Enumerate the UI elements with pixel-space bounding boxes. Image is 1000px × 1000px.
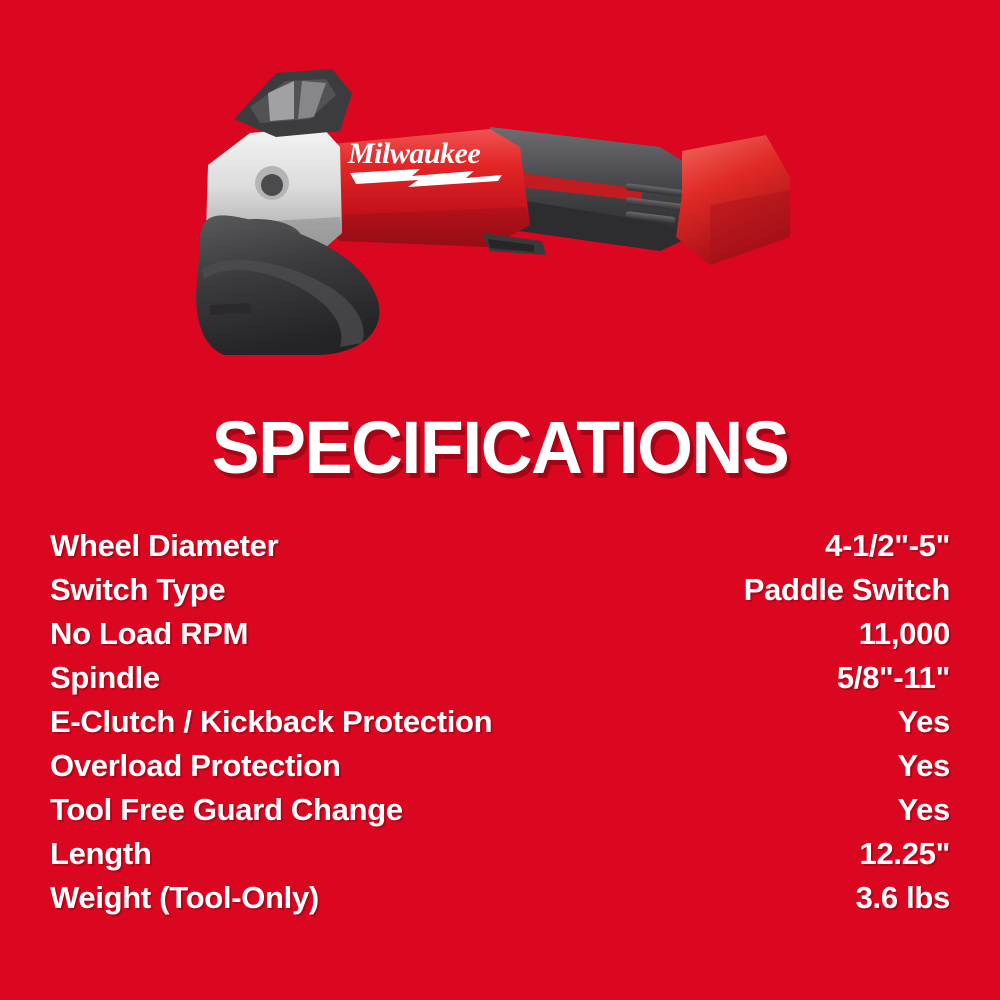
table-row: Length 12.25" (50, 832, 950, 876)
product-image-area: Milwaukee (0, 0, 1000, 400)
page-title: SPECIFICATIONS (15, 406, 985, 490)
spec-value: Yes (897, 744, 950, 788)
spec-value: 12.25" (860, 832, 950, 876)
side-handle-socket-hole (261, 174, 283, 196)
milwaukee-logo-text: Milwaukee (347, 137, 480, 170)
spec-label: No Load RPM (50, 612, 248, 656)
spec-label: Wheel Diameter (50, 524, 278, 568)
table-row: E-Clutch / Kickback Protection Yes (50, 700, 950, 744)
spec-label: Spindle (50, 656, 160, 700)
table-row: Tool Free Guard Change Yes (50, 788, 950, 832)
spec-value: Yes (897, 788, 950, 832)
spec-value: 4-1/2"-5" (825, 524, 950, 568)
spec-label: E-Clutch / Kickback Protection (50, 700, 492, 744)
spec-label: Overload Protection (50, 744, 341, 788)
milwaukee-logo: Milwaukee (347, 137, 502, 187)
spec-label: Weight (Tool-Only) (50, 876, 319, 920)
angle-grinder-image: Milwaukee (190, 55, 810, 365)
table-row: Switch Type Paddle Switch (50, 568, 950, 612)
table-row: Wheel Diameter 4-1/2"-5" (50, 524, 950, 568)
spec-label: Length (50, 832, 152, 876)
table-row: No Load RPM 11,000 (50, 612, 950, 656)
spec-label: Switch Type (50, 568, 225, 612)
specifications-table: Wheel Diameter 4-1/2"-5" Switch Type Pad… (50, 524, 950, 920)
spec-value: Paddle Switch (744, 568, 950, 612)
table-row: Overload Protection Yes (50, 744, 950, 788)
spec-label: Tool Free Guard Change (50, 788, 403, 832)
spec-value: 5/8"-11" (837, 656, 950, 700)
spec-value: 11,000 (859, 612, 950, 656)
table-row: Spindle 5/8"-11" (50, 656, 950, 700)
spec-value: Yes (897, 700, 950, 744)
grinder-guard-tab (210, 303, 252, 315)
table-row: Weight (Tool-Only) 3.6 lbs (50, 876, 950, 920)
spec-value: 3.6 lbs (856, 876, 950, 920)
